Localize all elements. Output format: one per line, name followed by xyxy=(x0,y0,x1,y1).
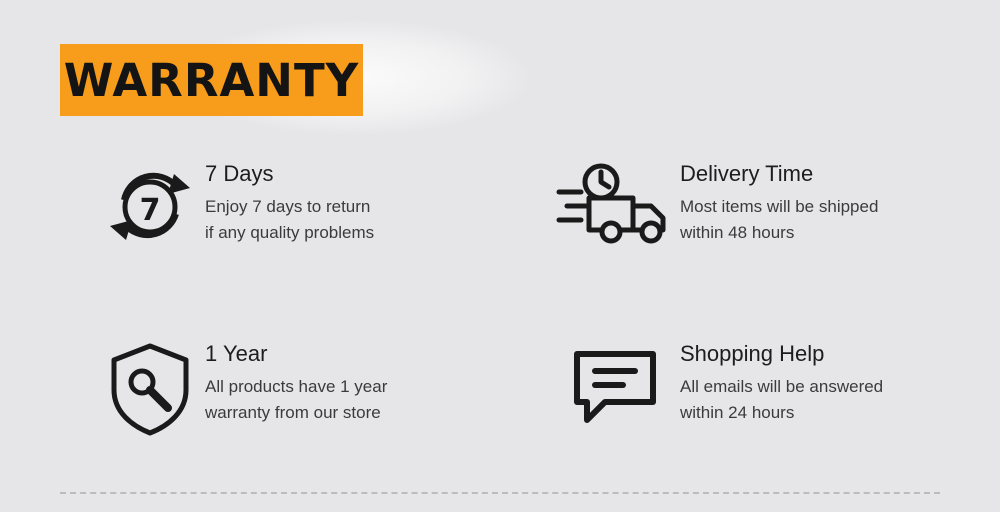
feature-description: Enjoy 7 days to return if any quality pr… xyxy=(205,194,374,247)
warranty-banner: WARRANTY 7 xyxy=(0,0,1000,512)
feature-text: 7 Days Enjoy 7 days to return if any qua… xyxy=(205,150,374,247)
feature-title: Shopping Help xyxy=(680,342,883,365)
feature-description: All emails will be answered within 24 ho… xyxy=(680,374,883,427)
feature-text: Shopping Help All emails will be answere… xyxy=(680,330,883,427)
return-arrows-7-icon: 7 xyxy=(95,150,205,246)
feature-text: 1 Year All products have 1 year warranty… xyxy=(205,330,387,427)
footer-divider xyxy=(60,492,940,494)
shield-wrench-icon xyxy=(95,330,205,438)
delivery-truck-clock-icon xyxy=(550,150,680,246)
feature-description: Most items will be shipped within 48 hou… xyxy=(680,194,878,247)
feature-title: 1 Year xyxy=(205,342,387,365)
feature-description: All products have 1 year warranty from o… xyxy=(205,374,387,427)
warranty-title-badge: WARRANTY xyxy=(60,44,363,116)
feature-item-shopping-help: Shopping Help All emails will be answere… xyxy=(520,330,1000,512)
chat-bubble-icon xyxy=(550,330,680,426)
feature-title: 7 Days xyxy=(205,162,374,185)
features-grid: 7 7 Days Enjoy 7 days to return if any q… xyxy=(0,150,1000,512)
features-row-2: 1 Year All products have 1 year warranty… xyxy=(0,330,1000,512)
feature-text: Delivery Time Most items will be shipped… xyxy=(680,150,878,247)
feature-item-delivery-time: Delivery Time Most items will be shipped… xyxy=(520,150,1000,330)
feature-item-7-days: 7 7 Days Enjoy 7 days to return if any q… xyxy=(0,150,520,330)
page-title: WARRANTY xyxy=(64,58,360,103)
feature-item-1-year: 1 Year All products have 1 year warranty… xyxy=(0,330,520,512)
feature-title: Delivery Time xyxy=(680,162,878,185)
svg-text:7: 7 xyxy=(140,193,161,228)
features-row-1: 7 7 Days Enjoy 7 days to return if any q… xyxy=(0,150,1000,330)
